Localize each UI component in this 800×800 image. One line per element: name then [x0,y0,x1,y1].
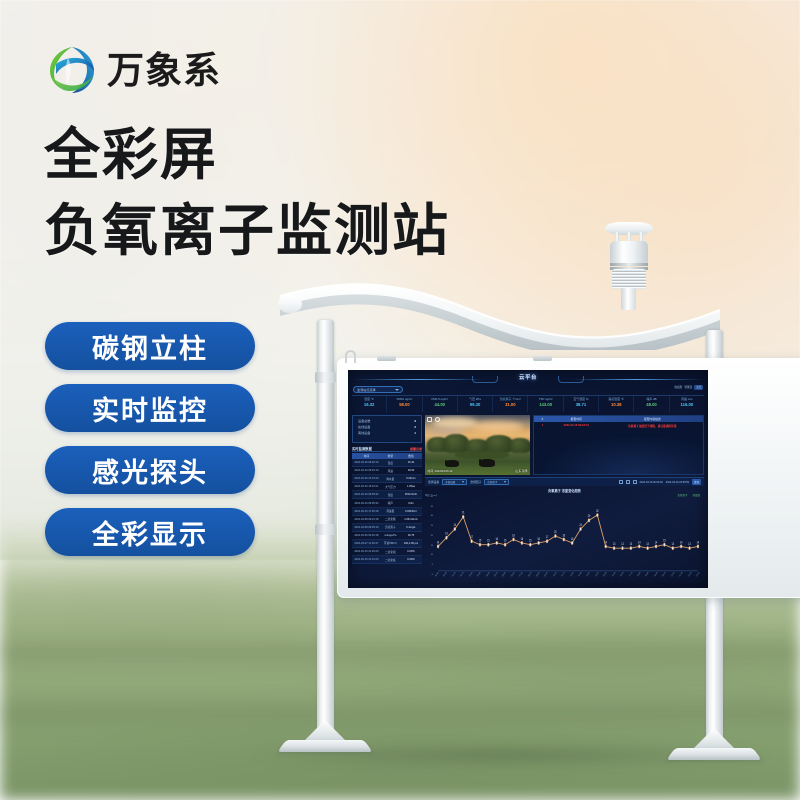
metric-value-3: 99.30 [458,402,492,408]
svg-text:14: 14 [655,540,658,545]
monitoring-station-kiosk: 云平台 监测站点选择 欢迎您 管理员 退出 温度 ℃ 16.32 [0,0,800,800]
sensor-stem [621,288,636,310]
records-title: 实时监测数据 [352,446,372,451]
stat-row-2: 离线设备 1 [358,431,416,437]
video-timestamp: 时间: 2022/03/16 42 [428,469,453,473]
record-time-12: 2022-03-15 21:16:20 [352,558,381,561]
svg-text:15: 15 [479,538,482,543]
table-row[interactable]: 2022-03-16 09:20:19 温度 16.32 [352,459,422,467]
metric-value-2: 44.00 [423,402,457,408]
metric-card-1: PM10 ug/m³ 58.00 [387,396,422,412]
factor-filter-select[interactable]: 负氧离子 [484,479,509,485]
metric-card-6: 空气湿度 % 38.71 [564,396,599,412]
video-location: 山东 菏泽 [516,469,528,473]
user-area: 欢迎您 管理员 退出 [674,385,703,390]
svg-text:19: 19 [445,531,448,536]
record-value-8: 0.4mg/L [400,526,422,529]
logout-button[interactable]: 退出 [694,385,703,390]
xtick-31: 23:15 [696,572,705,581]
chart-svg: 1419243117151516151816151617201816242932… [435,496,701,576]
factor-filter-value: 负氧离子 [487,480,497,484]
live-camera-feed[interactable]: 时间: 2022/03/16 42 山东 菏泽 [425,415,530,475]
svg-text:16: 16 [537,536,540,541]
record-value-12: 0.00% [400,558,422,561]
metrics-row: 温度 ℃ 16.32 PM10 ug/m³ 58.00 PM2.5 ug/m³ … [352,395,704,412]
record-time-6: 2022-03-15 17:35:18 [352,510,381,513]
sensor-body [610,241,648,264]
records-column-headers: 时间 类型 数值 [352,453,422,459]
record-type-12: 二氧化氮 [381,558,400,562]
svg-text:14: 14 [638,540,641,545]
chart-filter-bar: 监测设备 全部设备 监测因子 负氧离子 2022-03-16 00:00:00 … [425,477,704,486]
base-flange-right [666,748,762,760]
export-icon[interactable] [619,480,623,484]
table-row[interactable]: 2022-03-16 09:20:19 风速 18.00 [352,467,422,475]
records-col-2: 数值 [400,454,422,458]
trend-chart: 负氧离子 浓度变化趋势 负氧离子 浓度值 单位(个/cm³) 40 35 30 … [425,487,704,584]
record-value-3: 1.05pa [400,485,422,488]
led-display-screen: 云平台 监测站点选择 欢迎您 管理员 退出 温度 ℃ 16.32 [348,370,708,588]
svg-text:29: 29 [588,514,591,519]
svg-text:13: 13 [672,541,675,546]
records-col-1: 类型 [381,454,400,458]
query-button[interactable]: 查询 [692,479,701,484]
metric-card-0: 温度 ℃ 16.32 [352,396,387,412]
metric-value-0: 16.32 [352,402,386,408]
table-row[interactable]: 2022-03-15 21:20:20 二氧化硫 0.00% [352,548,422,556]
ytick-5: 15 [431,545,433,547]
record-type-6: 风速量 [381,509,400,513]
alarm-message-0: 负氧离子浓度低于阈值，请注意通风环境 [602,424,703,428]
cloud-platform-dashboard: 云平台 监测站点选择 欢迎您 管理员 退出 温度 ℃ 16.32 [348,370,708,588]
fullscreen-icon[interactable] [427,417,432,422]
metric-card-4: 负氧离子 个/cm³ 31.00 [493,396,528,412]
sensor-ring-top [610,263,648,266]
table-row[interactable]: 2022-03-06 09:02:18 voltage/Pa 18.75 [352,532,422,540]
svg-text:24: 24 [454,522,457,527]
record-time-1: 2022-03-16 09:20:19 [352,469,381,472]
device-filter-value: 全部设备 [445,480,455,484]
svg-text:15: 15 [663,538,666,543]
records-header: 实时监测数据 报警记录 [352,446,422,452]
record-time-4: 2022-03-16 09:05:34 [352,493,381,496]
device-stats-box: 设备总数 3 在线设备 2 离线设备 1 [352,415,422,443]
record-time-3: 2022-03-16 19:10:21 [352,485,381,488]
record-type-0: 温度 [381,461,400,465]
shrub-foreground [455,451,509,459]
record-type-2: 降水量 [381,477,400,481]
user-greeting: 欢迎您 [674,385,682,389]
time-range-start: 2022-03-16 00:00:00 [640,481,663,484]
svg-text:15: 15 [504,538,507,543]
svg-text:14: 14 [697,540,700,545]
alarm-col-1: 报警时间 [551,417,602,421]
stat-value-2: 1 [414,431,416,437]
record-time-11: 2022-03-15 21:20:20 [352,550,381,553]
svg-text:15: 15 [529,538,532,543]
record-value-9: 18.75 [400,534,422,537]
svg-text:13: 13 [621,541,624,546]
device-filter-select[interactable]: 全部设备 [442,479,467,485]
record-value-4: 3510.0m/h [400,493,422,496]
metric-value-8: 48.00 [634,402,668,408]
refresh-icon[interactable] [626,480,630,484]
time-range-end: 2022-03-16 23:59:59 [666,481,689,484]
metric-card-9: 风速 m/s 116.00 [670,396,704,412]
svg-text:13: 13 [630,541,633,546]
alarm-col-2: 报警内容描述 [602,417,703,421]
svg-text:15: 15 [487,538,490,543]
record-time-0: 2022-03-16 09:20:19 [352,461,381,464]
ytick-4: 20 [431,535,433,537]
svg-text:24: 24 [579,522,582,527]
pole-collar-left-lower [315,524,336,535]
metric-value-9: 116.00 [670,402,704,408]
alarm-panel: # 报警时间 报警内容描述 1 2022-03-16 09:18:10 负氧离子… [533,415,704,475]
device-filter-label: 监测设备 [428,480,439,484]
metric-value-5: 143.00 [528,402,562,408]
record-time-8: 2022-03-08 09:05:19 [352,526,381,529]
table-row[interactable]: 2022-03-16 21:15:40 降水量 0.00mm [352,475,422,483]
svg-text:14: 14 [437,540,440,545]
station-select-value: 监测站点选择 [357,387,376,392]
record-type-7: 二氧化碳 [381,517,400,521]
alarm-panel-bg [534,434,703,474]
svg-text:18: 18 [512,533,515,538]
sky-cloud-2 [471,421,523,432]
record-time-9: 2022-03-06 09:02:18 [352,534,381,537]
ytick-1: 35 [431,506,433,508]
radiation-shield [612,269,646,289]
bezel-clip-1 [377,356,396,361]
svg-text:20: 20 [554,529,557,534]
record-type-5: 噪声 [381,501,400,505]
base-plate-left [282,714,368,754]
dashboard-topbar: 云平台 [348,370,708,388]
video-controls[interactable] [427,417,440,422]
svg-text:31: 31 [462,510,465,515]
ytick-6: 10 [431,554,433,556]
svg-text:14: 14 [680,540,683,545]
svg-text:18: 18 [563,533,566,538]
base-gusset-left [303,720,347,742]
record-value-10: 100,2.00 pm [400,542,422,545]
table-row[interactable]: 2022-03-16 09:05:34 噪声 0.0m [352,499,422,507]
table-row[interactable]: 2022-03-16 19:10:21 大气压力 1.05pa [352,483,422,491]
metric-card-5: TSP ug/m³ 143.00 [528,396,563,412]
factor-filter-label: 监测因子 [470,480,481,484]
record-value-11: 0.00% [400,550,422,553]
table-row[interactable]: 2022-03-15 17:35:18 风速量 0.0018/m² [352,508,422,516]
record-value-5: 0.0m [400,502,422,505]
svg-text:16: 16 [521,536,524,541]
svg-text:17: 17 [470,534,473,539]
ytick-3: 25 [431,525,433,527]
chart-plot-area: 1419243117151516151816151617201816242932… [435,496,701,576]
metric-value-7: 10.38 [599,402,633,408]
svg-text:16: 16 [571,536,574,541]
svg-text:13: 13 [646,541,649,546]
records-col-0: 时间 [352,454,381,458]
filter-icon-group: 2022-03-16 00:00:00 2022-03-16 23:59:59 … [619,479,701,484]
record-value-6: 0.0018/m² [400,510,422,513]
alarm-col-0: # [534,417,551,421]
svg-text:14: 14 [604,540,607,545]
snapshot-icon[interactable] [435,417,440,422]
left-panel: 设备总数 3 在线设备 2 离线设备 1 实时监测数据 [352,415,422,584]
chart-y-axis: 40 35 30 25 20 15 10 5 0 [425,496,434,576]
table-row[interactable]: 2022-03-16 09:05:34 湿度 3510.0m/h [352,491,422,499]
chevron-down-icon [395,389,399,391]
record-type-11: 二氧化硫 [381,550,400,554]
record-type-10: 环境PM2.5 [381,541,400,545]
calendar-icon[interactable] [633,480,637,484]
metric-value-1: 58.00 [387,402,421,408]
poster-stage: 万象系 全彩屏 负氧离子监测站 碳钢立柱 实时监控 感光探头 全彩显示 [0,0,800,800]
records-table-body[interactable]: 2022-03-16 09:20:19 温度 16.32 2022-03-16 … [352,459,422,584]
base-plate-right [671,722,757,762]
ytick-2: 30 [431,515,433,517]
base-gusset-right [692,728,736,750]
record-time-7: 2022-03-08 09:10:18 [352,518,381,521]
station-select[interactable]: 监测站点选择 [353,386,403,393]
record-time-2: 2022-03-16 21:15:40 [352,477,381,480]
stat-label-2: 离线设备 [358,431,370,437]
dashboard-title: 云平台 [348,373,708,381]
svg-text:17: 17 [546,534,549,539]
record-time-10: 2022-03-07 11:50:47 [352,542,381,545]
alarm-records-link[interactable]: 报警记录 [410,447,422,451]
metric-value-4: 31.00 [493,402,527,408]
record-value-1: 18.00 [400,469,422,472]
alarm-index-0: 1 [534,424,551,427]
metric-card-2: PM2.5 ug/m³ 44.00 [423,396,458,412]
record-type-9: voltage/Pa [381,534,400,537]
record-type-3: 大气压力 [381,485,400,489]
cow-right [479,459,495,467]
user-name: 管理员 [684,385,692,389]
ultrasonic-weather-sensor [601,222,657,296]
metric-card-7: 露点温度 ℃ 10.38 [599,396,634,412]
record-type-1: 风速 [381,469,400,473]
record-value-2: 0.00mm [400,477,422,480]
alarm-row-0[interactable]: 1 2022-03-16 09:18:10 负氧离子浓度低于阈值，请注意通风环境 [534,422,703,429]
record-type-4: 湿度 [381,493,400,497]
svg-text:13: 13 [688,541,691,546]
metric-card-8: 噪声 dB 48.00 [634,396,669,412]
bezel-clip-2 [533,356,552,361]
ytick-8: 0 [432,574,433,576]
tree-5 [509,438,530,453]
svg-text:13: 13 [613,541,616,546]
pole-collar-left-upper [315,372,336,383]
cow-left [445,460,459,467]
record-value-0: 16.32 [400,461,422,464]
svg-text:32: 32 [596,508,599,513]
table-row[interactable]: 2022-03-07 11:50:47 环境PM2.5 100,2.00 pm [352,540,422,548]
table-row[interactable]: 2022-03-08 09:05:19 负氧离子 0.4mg/L [352,524,422,532]
table-row[interactable]: 2022-03-15 21:16:20 二氧化氮 0.00% [352,556,422,564]
record-type-8: 负氧离子 [381,525,400,529]
base-flange-left [277,740,373,752]
table-row[interactable]: 2022-03-08 09:10:18 二氧化碳 1.05m3/min [352,516,422,524]
alarm-time-0: 2022-03-16 09:18:10 [551,424,602,427]
metric-card-3: 气压 kPa 99.30 [458,396,493,412]
ytick-0: 40 [431,496,433,498]
mount-hook-left [345,350,356,363]
metric-value-6: 38.71 [564,402,598,408]
chart-title: 负氧离子 浓度变化趋势 [425,488,704,493]
record-value-7: 1.05m3/min [400,518,422,521]
record-time-5: 2022-03-16 09:05:34 [352,502,381,505]
chart-x-axis: 00:0000:4501:3002:1503:0003:4504:3005:15… [435,576,701,584]
ytick-7: 5 [432,564,433,566]
svg-text:16: 16 [495,536,498,541]
